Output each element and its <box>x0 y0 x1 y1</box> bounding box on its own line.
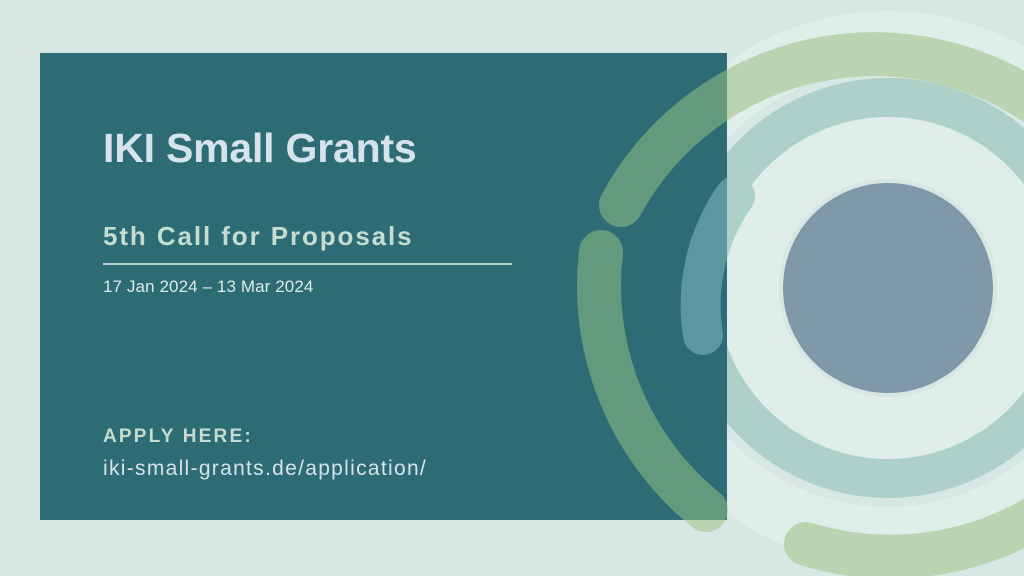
content-panel: IKI Small Grants 5th Call for Proposals … <box>40 53 727 520</box>
call-subtitle: 5th Call for Proposals <box>103 221 414 252</box>
ring-core-circle <box>783 183 993 393</box>
panel-text-block: IKI Small Grants 5th Call for Proposals … <box>40 53 727 520</box>
subtitle-divider <box>103 263 512 265</box>
application-url[interactable]: iki-small-grants.de/application/ <box>103 457 427 481</box>
ring-mid-teal <box>698 98 1024 478</box>
poster-canvas: IKI Small Grants 5th Call for Proposals … <box>0 0 1024 576</box>
arc-green-bottom <box>806 370 1024 557</box>
date-range: 17 Jan 2024 – 13 Mar 2024 <box>103 277 313 297</box>
ring-inner-pale <box>748 148 1024 428</box>
page-title: IKI Small Grants <box>103 125 417 172</box>
apply-here-label: APPLY HERE: <box>103 426 253 448</box>
